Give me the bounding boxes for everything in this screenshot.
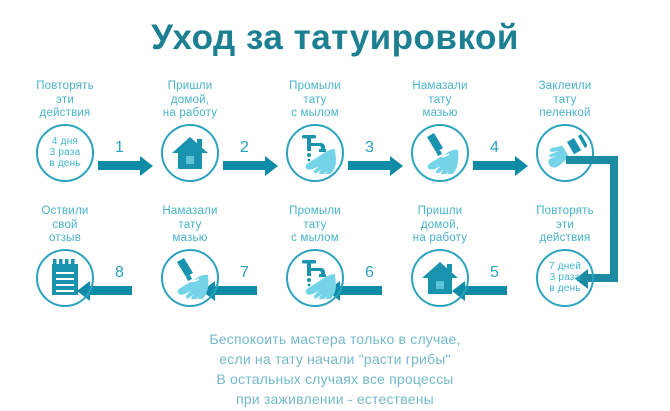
circle-text: 4 дня 3 раза в день <box>49 136 80 169</box>
text-circle: 4 дня 3 раза в день <box>36 124 94 182</box>
faucet-hand-icon <box>293 257 337 299</box>
notepad-circle <box>36 249 94 307</box>
bandaged-arm-icon <box>543 132 587 174</box>
step-node-r2-4: Пришли домой, на работу <box>380 205 500 307</box>
step-caption: Повторять эти действия <box>505 205 625 246</box>
house-circle <box>411 249 469 307</box>
text-circle: 7 дней 3 раза в день <box>536 249 594 307</box>
page-title: Уход за татуировкой <box>0 18 670 58</box>
arrow-number-2: 2 <box>240 140 249 156</box>
notepad-icon <box>48 258 82 298</box>
step-caption: Оствили свой отзыв <box>5 205 125 246</box>
ointment-hand-circle <box>161 249 219 307</box>
ointment-hand-icon <box>418 132 462 174</box>
step-caption: Промыли тату с мылом <box>255 80 375 121</box>
step-caption: Намазали тату мазью <box>130 205 250 246</box>
house-icon <box>420 260 460 296</box>
footer-note: Беспокоить мастера только в случае, если… <box>0 329 670 409</box>
bandaged-arm-circle <box>536 124 594 182</box>
circle-text: 7 дней 3 раза в день <box>549 261 581 294</box>
faucet-hand-circle <box>286 124 344 182</box>
step-node-r2-1: Оствили свой отзыв <box>5 205 125 307</box>
arrow-number-3: 3 <box>365 140 374 156</box>
step-node-r2-5: Повторять эти действия 7 дней 3 раза в д… <box>505 205 625 307</box>
faucet-hand-icon <box>293 132 337 174</box>
ointment-hand-circle <box>411 124 469 182</box>
step-node-r1-5: Заклеили тату пеленкой <box>505 80 625 182</box>
arrow-number-1: 1 <box>115 140 124 156</box>
infographic-canvas: Уход за татуировкой Повторять эти действ… <box>0 0 670 411</box>
arrow-number-4: 4 <box>490 140 499 156</box>
step-caption: Намазали тату мазью <box>380 80 500 121</box>
ointment-hand-icon <box>168 257 212 299</box>
step-caption: Повторять эти действия <box>5 80 125 121</box>
step-caption: Пришли домой, на работу <box>380 205 500 246</box>
step-caption: Пришли домой, на работу <box>130 80 250 121</box>
step-node-r2-2: Намазали тату мазью <box>130 205 250 307</box>
step-node-r2-3: Промыли тату с мылом <box>255 205 375 307</box>
house-circle <box>161 124 219 182</box>
step-caption: Промыли тату с мылом <box>255 205 375 246</box>
step-caption: Заклеили тату пеленкой <box>505 80 625 121</box>
faucet-hand-circle <box>286 249 344 307</box>
house-icon <box>170 135 210 171</box>
